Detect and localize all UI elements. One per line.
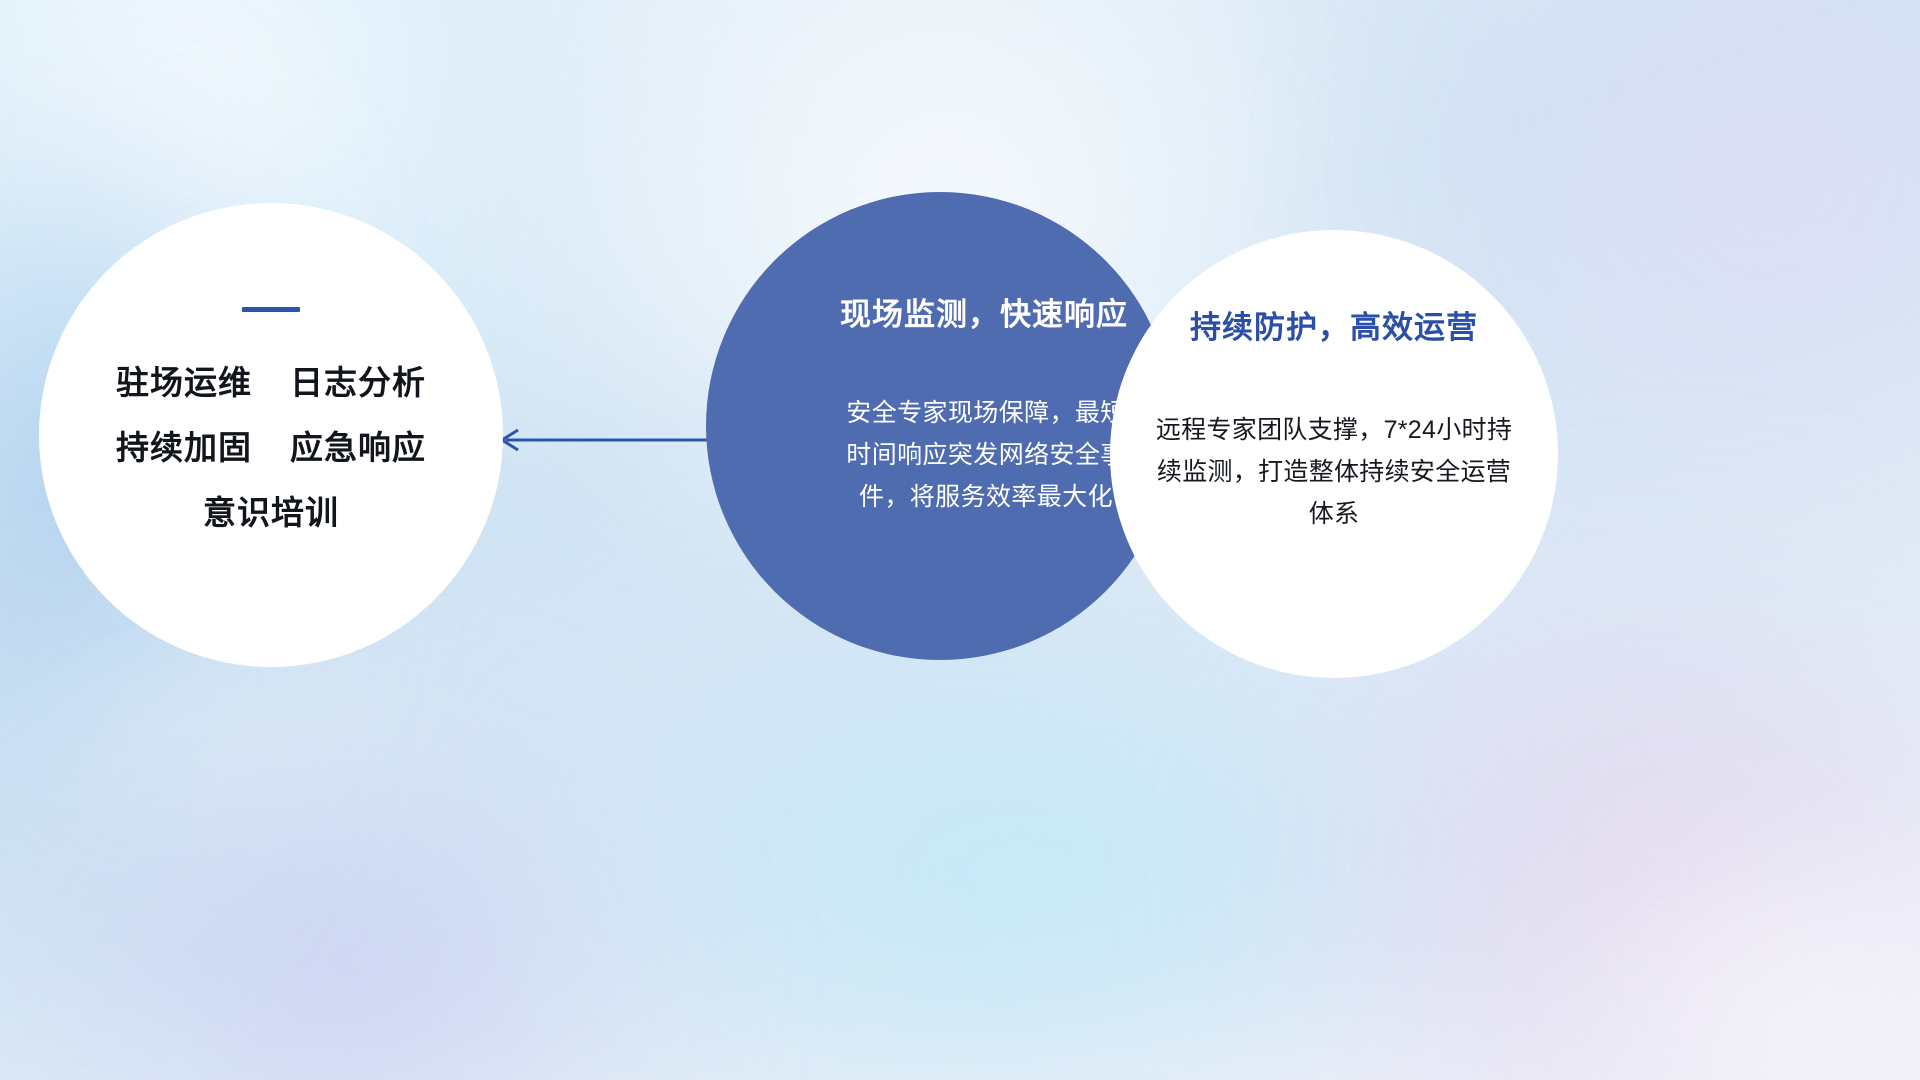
onsite-monitoring-circle[interactable]: 现场监测，快速响应 安全专家现场保障，最短时间响应突发网络安全事件，将服务效率最…: [706, 192, 1174, 660]
capabilities-circle[interactable]: 驻场运维 日志分析 持续加固 应急响应 意识培训: [39, 203, 503, 667]
continuous-protection-title: 持续防护，高效运营: [1190, 302, 1478, 347]
onsite-monitoring-content: 现场监测，快速响应 安全专家现场保障，最短时间响应突发网络安全事件，将服务效率最…: [706, 192, 1174, 660]
continuous-protection-circle[interactable]: 持续防护，高效运营 远程专家团队支撑，7*24小时持续监测，打造整体持续安全运营…: [1110, 230, 1558, 678]
divider-dash-icon: [242, 307, 300, 312]
capability-list: 驻场运维 日志分析 持续加固 应急响应 意识培训: [116, 356, 426, 534]
continuous-protection-body: 远程专家团队支撑，7*24小时持续监测，打造整体持续安全运营体系: [1151, 409, 1517, 535]
onsite-monitoring-title: 现场监测，快速响应: [840, 289, 1128, 334]
capability-row: 驻场运维 日志分析: [116, 356, 426, 404]
capability-item: 日志分析: [290, 356, 426, 404]
continuous-protection-content: 持续防护，高效运营 远程专家团队支撑，7*24小时持续监测，打造整体持续安全运营…: [1110, 230, 1558, 678]
capability-item: 应急响应: [290, 421, 426, 469]
onsite-monitoring-body: 安全专家现场保障，最短时间响应突发网络安全事件，将服务效率最大化: [836, 392, 1136, 518]
capabilities-circle-content: 驻场运维 日志分析 持续加固 应急响应 意识培训: [39, 203, 503, 667]
capability-row: 持续加固 应急响应: [116, 421, 426, 469]
capability-item: 驻场运维: [116, 356, 252, 404]
capability-item: 意识培训: [203, 486, 339, 534]
capability-row: 意识培训: [203, 486, 339, 534]
capability-item: 持续加固: [116, 421, 252, 469]
leftward-flow-arrow: [492, 424, 722, 456]
slide-canvas: 驻场运维 日志分析 持续加固 应急响应 意识培训 现场监测，快速响应 安全专家现…: [0, 0, 1920, 1080]
